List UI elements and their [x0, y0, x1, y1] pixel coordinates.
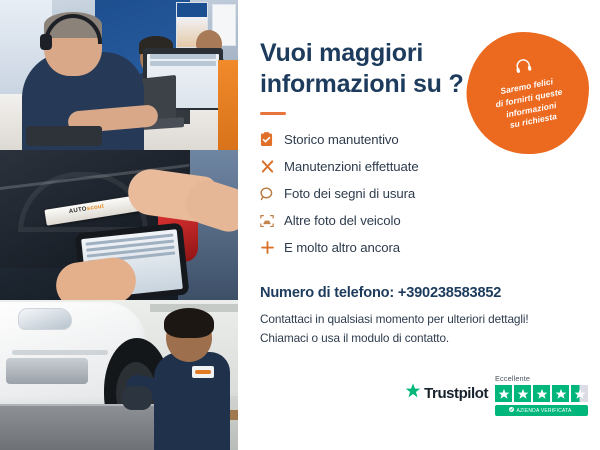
feature-label: E molto altro ancora — [284, 240, 400, 255]
contact-subtext-line-1: Contattaci in qualsiasi momento per ulte… — [260, 310, 600, 329]
screen-bar — [150, 54, 216, 59]
magnifier-icon — [260, 187, 284, 201]
trustpilot-wordmark: Trustpilot — [424, 385, 488, 402]
feature-label: Altre foto del veicolo — [284, 213, 401, 228]
trustpilot-widget[interactable]: Trustpilot Eccellente — [405, 374, 588, 416]
tools-cross-icon — [260, 159, 284, 174]
car-frame-icon — [260, 214, 284, 228]
call-center-photo — [0, 0, 238, 150]
plus-icon — [260, 240, 284, 255]
orange-pillar — [218, 60, 238, 150]
desk-tablet — [26, 126, 102, 146]
verified-check-icon — [509, 407, 514, 414]
car-headlight — [18, 308, 72, 330]
feature-label: Foto dei segni di usura — [284, 186, 415, 201]
title-underline-rule — [260, 112, 286, 115]
photo-strip: AUTOscout — [0, 0, 238, 450]
star-icon — [495, 385, 512, 402]
trustpilot-rating: Eccellente — [495, 374, 588, 416]
star-rating — [495, 385, 588, 402]
trustpilot-star-icon — [405, 383, 421, 404]
feature-item-foto-usura: Foto dei segni di usura — [260, 180, 475, 207]
feature-label: Manutenzioni effettuate — [284, 159, 419, 174]
strip-brand-label: AUTOscout — [69, 204, 105, 215]
badge-content: Saremo felici di fornirti queste informa… — [456, 21, 599, 164]
rating-label: Eccellente — [495, 374, 530, 383]
feature-list: Storico manutentivo Manutenzioni effettu… — [260, 126, 475, 261]
star-icon — [514, 385, 531, 402]
content-panel: Vuoi maggiori informazioni su ? Saremo f… — [238, 0, 600, 450]
page-title: Vuoi maggiori informazioni su ? — [260, 38, 475, 99]
bumper-inspection-photo: AUTOscout — [0, 150, 238, 300]
feature-item-storico: Storico manutentivo — [260, 126, 475, 153]
contact-subtext: Contattaci in qualsiasi momento per ulte… — [260, 310, 600, 348]
feature-item-manutenzioni: Manutenzioni effettuate — [260, 153, 475, 180]
feature-label: Storico manutentivo — [284, 132, 399, 147]
contact-subtext-line-2: Chiamaci o usa il modulo di contatto. — [260, 329, 600, 348]
headset-earcup — [40, 34, 52, 50]
screen-bar — [150, 61, 216, 66]
front-grille — [6, 358, 88, 384]
callout-badge: Saremo felici di fornirti queste informa… — [467, 32, 589, 154]
chrome-trim — [12, 350, 108, 355]
uniform-logo-patch — [192, 366, 214, 378]
feature-item-altre-foto: Altre foto del veicolo — [260, 207, 475, 234]
phone-label: Numero di telefono: — [260, 285, 394, 301]
phone-line: Numero di telefono: +390238583852 — [260, 285, 600, 301]
phone-number[interactable]: +390238583852 — [398, 285, 501, 301]
promo-card: AUTOscout — [0, 0, 600, 450]
trustpilot-logo: Trustpilot — [405, 374, 488, 404]
headset-icon — [513, 57, 534, 80]
mechanic-glove — [122, 386, 152, 410]
mechanic-hair — [164, 308, 214, 338]
star-icon — [552, 385, 569, 402]
star-half-icon — [571, 385, 588, 402]
status-badge: AZIENDA VERIFICATA — [495, 405, 588, 416]
clipboard-check-icon — [260, 132, 284, 147]
mechanic-wheel-photo — [0, 300, 238, 450]
vehicle-lift — [0, 406, 180, 450]
feature-item-altro-ancora: E molto altro ancora — [260, 234, 475, 261]
verified-label: AZIENDA VERIFICATA — [516, 408, 571, 414]
star-icon — [533, 385, 550, 402]
